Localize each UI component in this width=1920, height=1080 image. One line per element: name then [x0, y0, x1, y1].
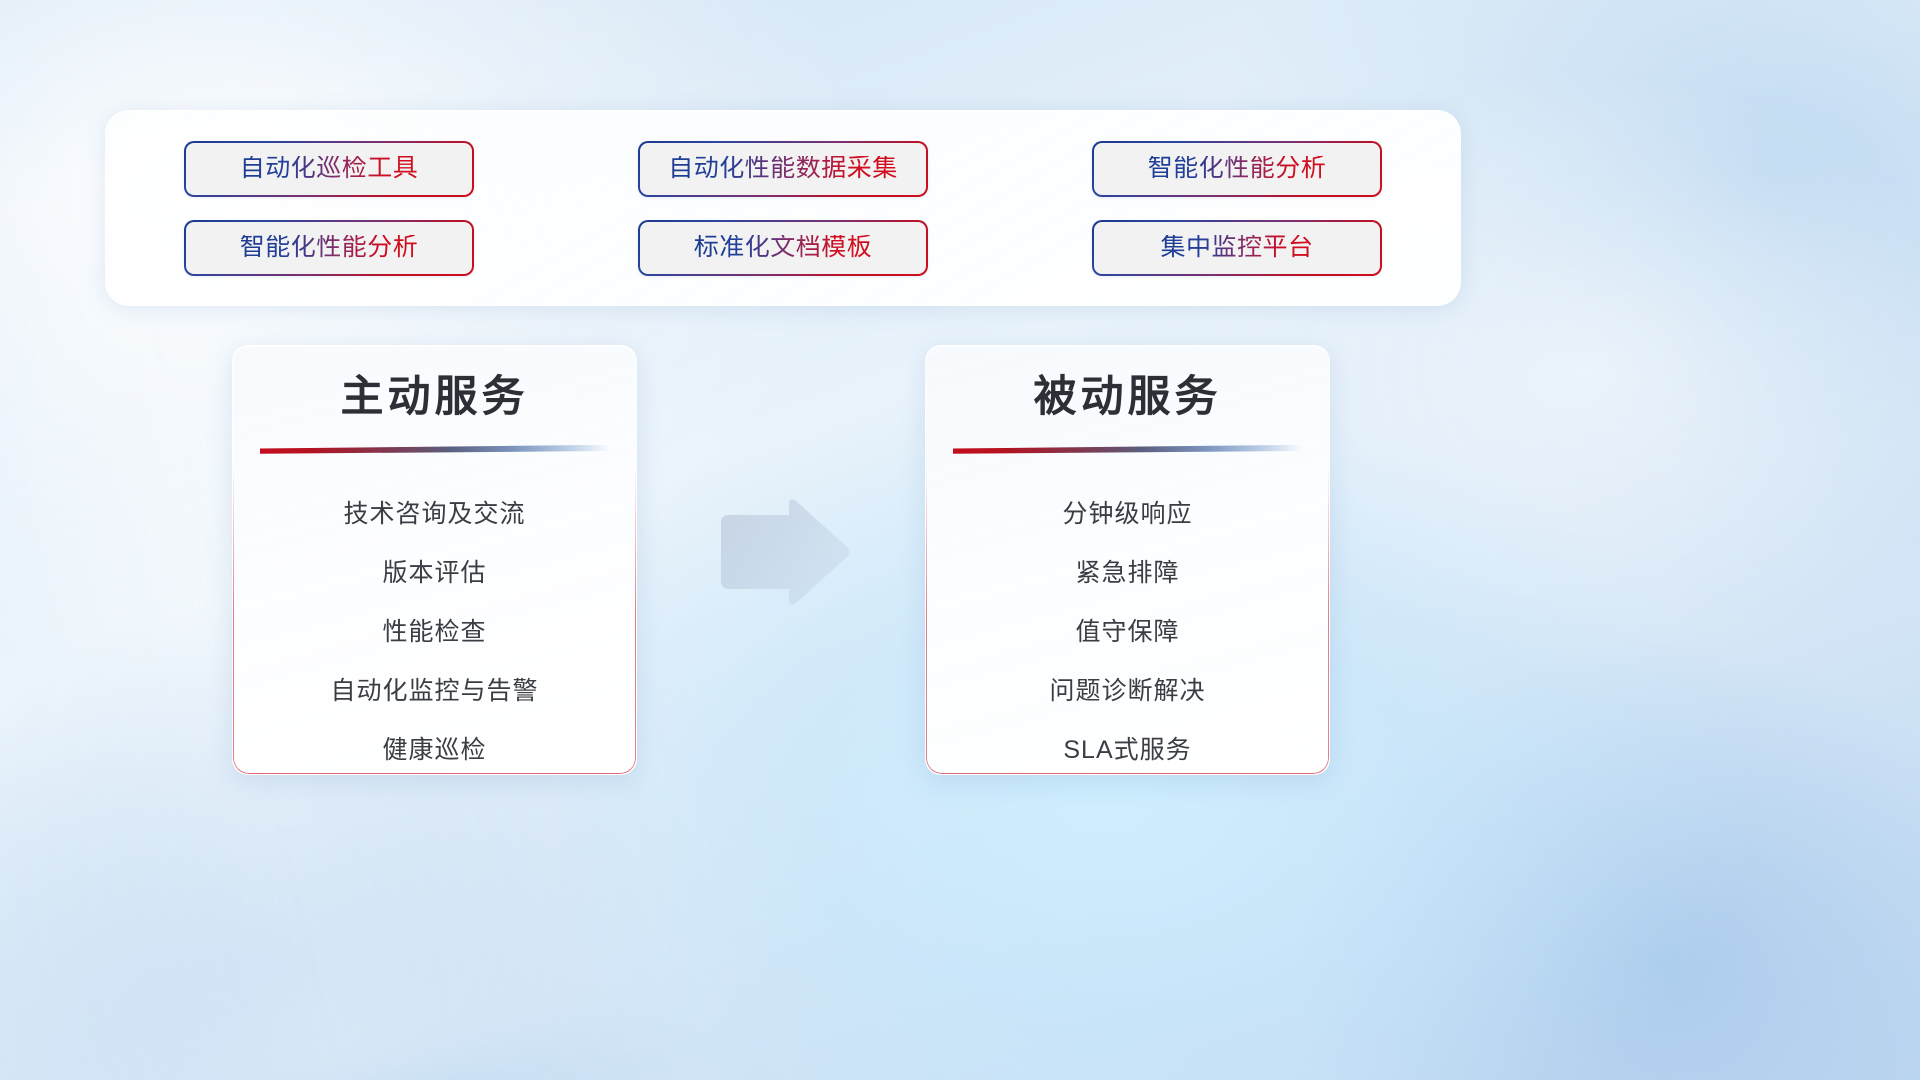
- capability-tags-panel: 自动化巡检工具 自动化性能数据采集 智能化性能分析 智能化性能分析 标准化文档模…: [105, 110, 1461, 306]
- card-list-item: 紧急排障: [1075, 544, 1179, 603]
- capability-tag[interactable]: 自动化巡检工具: [184, 141, 474, 197]
- right-arrow-icon: [713, 497, 853, 609]
- card-list-item: 性能检查: [382, 603, 486, 662]
- slide-canvas: 自动化巡检工具 自动化性能数据采集 智能化性能分析 智能化性能分析 标准化文档模…: [0, 0, 1920, 1080]
- capability-tag[interactable]: 集中监控平台: [1092, 220, 1382, 276]
- capability-tag-label: 智能化性能分析: [240, 235, 419, 260]
- card-list-item: 版本评估: [382, 544, 486, 603]
- card-list-item: 健康巡检: [382, 721, 486, 775]
- card-item-list: 分钟级响应 紧急排障 值守保障 问题诊断解决 SLA式服务: [926, 485, 1329, 775]
- capability-tag-label: 智能化性能分析: [1148, 156, 1327, 181]
- capability-tag-label: 标准化文档模板: [694, 235, 873, 260]
- card-divider: [953, 443, 1303, 455]
- card-divider-bar: [260, 445, 610, 454]
- capability-tag-row: 智能化性能分析 标准化文档模板 集中监控平台: [184, 220, 1382, 276]
- card-list-item: 问题诊断解决: [1049, 662, 1205, 721]
- capability-tag-label: 自动化性能数据采集: [668, 156, 898, 181]
- capability-tag-label: 集中监控平台: [1160, 235, 1313, 260]
- capability-tag[interactable]: 自动化性能数据采集: [638, 141, 928, 197]
- capability-tag-row: 自动化巡检工具 自动化性能数据采集 智能化性能分析: [184, 141, 1382, 197]
- card-divider: [260, 443, 610, 455]
- card-list-item: 自动化监控与告警: [330, 662, 538, 721]
- card-list-item: SLA式服务: [1063, 721, 1191, 775]
- capability-tag-label: 自动化巡检工具: [240, 156, 419, 181]
- card-list-item: 分钟级响应: [1062, 485, 1192, 544]
- card-list-item: 值守保障: [1075, 603, 1179, 662]
- card-divider-bar: [953, 445, 1303, 454]
- capability-tag[interactable]: 智能化性能分析: [1092, 141, 1382, 197]
- card-list-item: 技术咨询及交流: [343, 485, 525, 544]
- capability-tag[interactable]: 标准化文档模板: [638, 220, 928, 276]
- right-arrow-glyph: [713, 497, 853, 609]
- capability-tag[interactable]: 智能化性能分析: [184, 220, 474, 276]
- service-card-proactive: 主动服务 技术咨询及交流 版本评估 性能检查 自动化监控与告警 健康巡检: [232, 345, 637, 775]
- card-title: 被动服务: [926, 371, 1329, 425]
- card-item-list: 技术咨询及交流 版本评估 性能检查 自动化监控与告警 健康巡检: [233, 485, 636, 775]
- service-card-reactive: 被动服务 分钟级响应 紧急排障 值守保障 问题诊断解决 SLA式服务: [925, 345, 1330, 775]
- card-title: 主动服务: [233, 371, 636, 425]
